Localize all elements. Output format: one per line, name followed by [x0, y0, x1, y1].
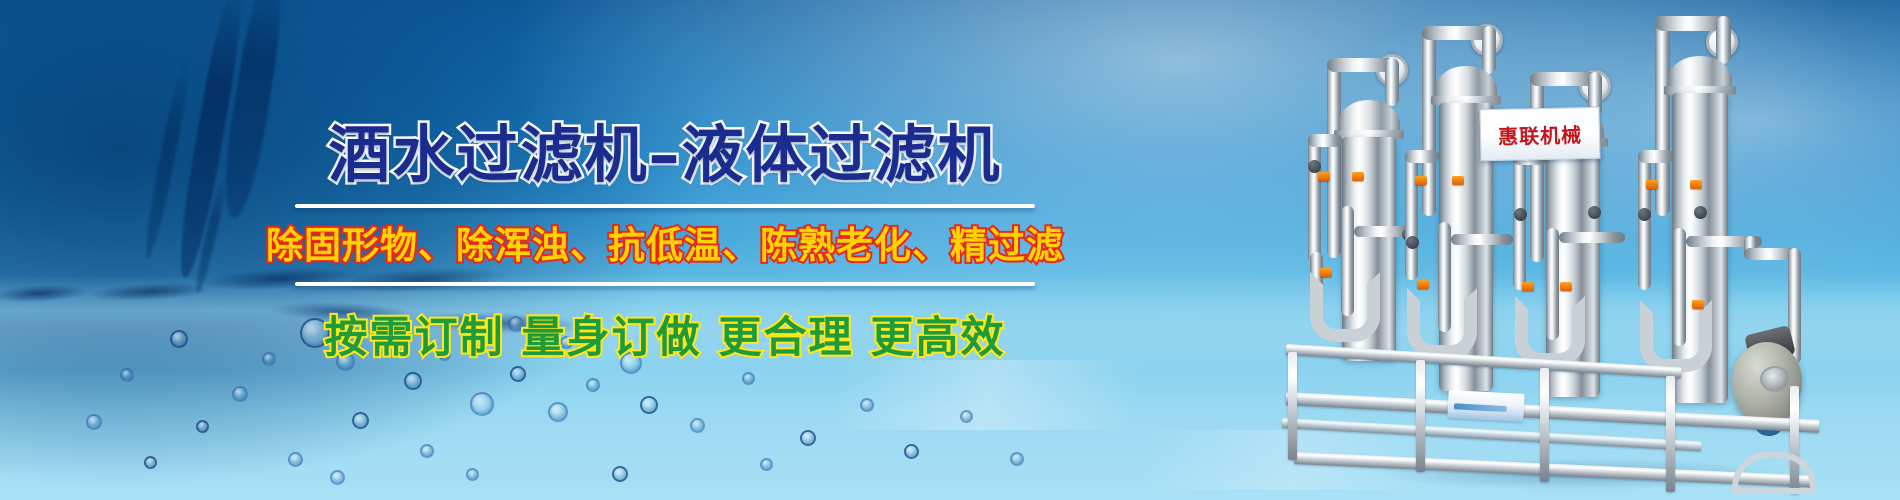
banner-headline: 酒水过滤机–液体过滤机 [0, 118, 1330, 192]
bypass-pipe [1513, 152, 1526, 290]
water-bubble [860, 398, 874, 412]
equipment-label-sticker [1447, 390, 1524, 422]
filter-machine-photo: 惠联机械 [1270, 0, 1900, 500]
promo-banner: 酒水过滤机–液体过滤机 除固形物、除浑浊、抗低温、陈熟老化、精过滤 按需订制 量… [0, 0, 1900, 500]
water-bubble [960, 410, 973, 423]
pump-support-loop [1732, 452, 1816, 494]
water-bubble [404, 372, 422, 390]
bypass-top [1405, 150, 1439, 163]
water-bubble [144, 456, 157, 469]
water-bubble [120, 368, 134, 382]
riser-pipe [1422, 26, 1436, 216]
divider-line-top [295, 204, 1035, 208]
valve-knob [1588, 206, 1601, 219]
u-bend-right-leg [1341, 206, 1354, 316]
water-bubble [420, 444, 434, 458]
water-bubble [510, 366, 526, 382]
water-bubble [612, 466, 628, 482]
water-bubble [760, 458, 773, 471]
brand-nameplate: 惠联机械 [1479, 107, 1600, 162]
valve-knob [1514, 208, 1527, 221]
water-bubble [466, 468, 479, 481]
water-bubble [232, 386, 248, 402]
frame-leg [1288, 352, 1297, 460]
valve-handle [1692, 300, 1704, 309]
frame-leg [1540, 368, 1549, 482]
water-bubble [470, 392, 494, 416]
pump-outlet-port [1760, 366, 1790, 392]
valve-knob [1694, 206, 1707, 219]
water-bubble [800, 430, 816, 446]
frame-leg [1416, 360, 1425, 472]
u-bend-right-leg [1546, 228, 1559, 340]
banner-subline: 除固形物、除浑浊、抗低温、陈熟老化、精过滤 [0, 222, 1330, 270]
water-bubble [904, 444, 919, 459]
valve-handle [1560, 282, 1572, 291]
down-pipe [1482, 26, 1496, 74]
valve-handle [1522, 282, 1534, 291]
valve-knob [1406, 236, 1419, 249]
down-pipe [1385, 58, 1399, 106]
water-bubble [288, 452, 303, 467]
valve-handle [1452, 176, 1464, 185]
valve-handle [1415, 176, 1427, 185]
banner-copy: 酒水过滤机–液体过滤机 除固形物、除浑浊、抗低温、陈熟老化、精过滤 按需订制 量… [0, 118, 1330, 366]
u-bend-right-leg [1673, 228, 1686, 346]
water-bubble [86, 414, 102, 430]
water-bubble [640, 396, 658, 414]
down-pipe [1716, 16, 1731, 64]
water-bubble [1010, 452, 1024, 466]
water-bubble [352, 412, 369, 429]
water-bubble [330, 470, 345, 485]
u-bend-right-leg [1438, 222, 1451, 332]
brand-nameplate-text: 惠联机械 [1498, 119, 1583, 150]
water-bubble [690, 418, 705, 433]
riser-pipe [1530, 72, 1544, 262]
water-bubble [196, 420, 209, 433]
bypass-top [1638, 150, 1674, 163]
water-bubble [742, 372, 755, 385]
water-bubble [586, 378, 600, 392]
valve-knob [1638, 208, 1651, 221]
divider-line-bottom [295, 282, 1035, 286]
cross-pipe [1559, 232, 1625, 243]
bypass-pipe [1405, 150, 1418, 280]
valve-handle [1417, 280, 1429, 289]
frame-leg [1666, 376, 1675, 492]
valve-handle [1352, 172, 1364, 181]
valve-handle [1690, 180, 1702, 189]
valve-handle [1646, 180, 1658, 189]
banner-tagline: 按需订制 量身订做 更合理 更高效 [0, 310, 1330, 366]
water-bubble [548, 402, 568, 422]
cross-pipe [1451, 234, 1513, 245]
